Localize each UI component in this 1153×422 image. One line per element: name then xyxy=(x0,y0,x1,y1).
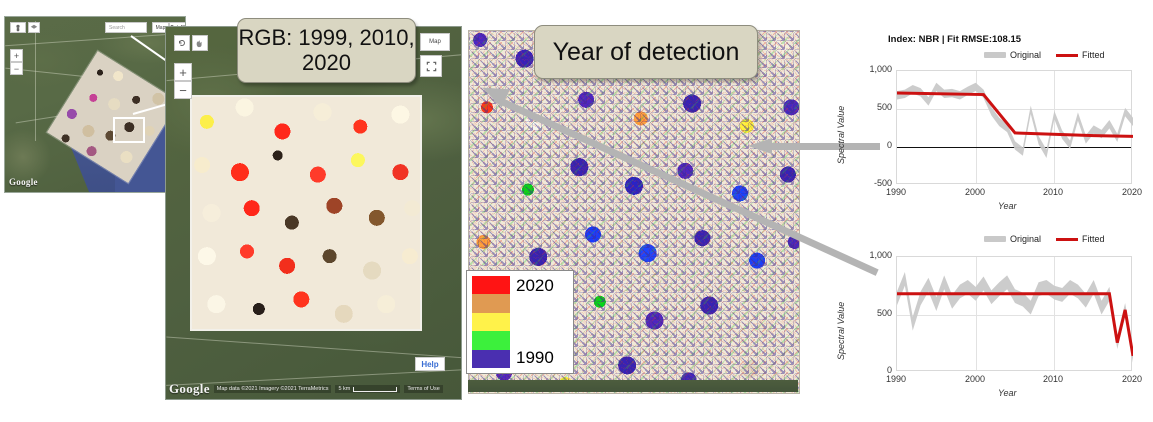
legend-item-original: Original xyxy=(984,50,1041,60)
chart-bottom: Original Fitted Spectral Value 1,000 500… xyxy=(832,228,1150,414)
legend-label-fitted: Fitted xyxy=(1082,234,1105,244)
main-map-maptype-label: Map xyxy=(429,39,441,45)
rgb-composite-image xyxy=(190,95,422,331)
chart-bottom-xtick-1990: 1990 xyxy=(876,374,916,384)
locator-map-label: Map xyxy=(156,25,166,31)
chart-top: Index: NBR | Fit RMSE:108.15 Original Fi… xyxy=(832,34,1150,220)
chart-top-ytick-500: 500 xyxy=(848,102,892,112)
legend-swatch-2020 xyxy=(472,276,510,294)
locator-search-input[interactable]: Search xyxy=(105,22,147,33)
locator-road xyxy=(35,21,36,141)
zoom-out-label: − xyxy=(179,83,187,98)
chart-top-plot-area xyxy=(896,70,1132,184)
map-attribution-text: Map data ©2021 Imagery ©2021 TerraMetric… xyxy=(214,385,332,393)
chart-bottom-legend: Original Fitted xyxy=(984,234,1105,244)
map-scale-label: 5 km xyxy=(338,386,350,392)
chart-bottom-xtick-2010: 2010 xyxy=(1033,374,1073,384)
legend-swatch-original xyxy=(984,52,1006,58)
legend-label-top: 2020 xyxy=(516,276,554,296)
arrow-head-top xyxy=(748,138,772,154)
help-label: Help xyxy=(421,360,438,369)
callout-rgb: RGB: 1999, 2010, 2020 xyxy=(237,18,416,83)
locator-google-watermark: Google xyxy=(9,172,38,190)
chart-bottom-xtick-2020: 2020 xyxy=(1112,374,1152,384)
legend-swatch-column xyxy=(472,276,510,368)
main-map-zoom-out-button[interactable]: − xyxy=(174,81,192,99)
chart-bottom-ylabel: Spectral Value xyxy=(836,302,846,360)
chart-bottom-xlabel: Year xyxy=(998,388,1017,398)
locator-roi-box[interactable] xyxy=(113,117,145,143)
legend-label-column: 2020 1990 xyxy=(516,276,554,368)
chart-top-ytick-1000: 1,000 xyxy=(848,64,892,74)
chart-bottom-xtick-2000: 2000 xyxy=(955,374,995,384)
chart-top-title: Index: NBR | Fit RMSE:108.15 xyxy=(888,34,1021,45)
zoom-in-label: + xyxy=(179,65,187,80)
map-scale-line xyxy=(353,387,397,392)
callout-year-of-detection: Year of detection xyxy=(534,25,758,79)
legend-item-original: Original xyxy=(984,234,1041,244)
main-map-fullscreen-icon[interactable] xyxy=(420,55,442,77)
locator-zoom-out-button[interactable]: − xyxy=(10,62,23,75)
year-of-detection-basemap-strip xyxy=(468,380,798,392)
main-map-maptype-button[interactable]: Map xyxy=(420,33,450,51)
chart-bottom-series xyxy=(897,257,1133,372)
legend-swatch-fitted xyxy=(1056,238,1078,241)
chart-top-legend: Original Fitted xyxy=(984,50,1105,60)
locator-zoom-in-button[interactable]: + xyxy=(10,49,23,62)
legend-swatch-4 xyxy=(472,294,510,312)
legend-swatch-3 xyxy=(472,313,510,331)
google-watermark: Google xyxy=(169,381,210,397)
year-of-detection-legend: 2020 1990 xyxy=(466,270,574,374)
legend-item-fitted: Fitted xyxy=(1056,50,1105,60)
chart-bottom-plot-area xyxy=(896,256,1132,371)
legend-label-fitted: Fitted xyxy=(1082,50,1105,60)
legend-swatch-fitted xyxy=(1056,54,1078,57)
map-help-button[interactable]: Help xyxy=(415,357,445,371)
legend-label-original: Original xyxy=(1010,234,1041,244)
legend-item-fitted: Fitted xyxy=(1056,234,1105,244)
chart-top-series xyxy=(897,71,1133,185)
callout-year-label: Year of detection xyxy=(553,38,740,66)
legend-swatch-2 xyxy=(472,331,510,349)
chart-bottom-ytick-500: 500 xyxy=(848,308,892,318)
locator-search-placeholder: Search xyxy=(109,25,125,31)
chart-bottom-ytick-1000: 1,000 xyxy=(848,250,892,260)
main-map-hand-icon[interactable] xyxy=(192,35,208,51)
legend-swatch-original xyxy=(984,236,1006,242)
legend-swatch-1990 xyxy=(472,350,510,368)
map-attribution-bar: Google Map data ©2021 Imagery ©2021 Terr… xyxy=(165,380,460,398)
chart-top-xtick-1990: 1990 xyxy=(876,187,916,197)
chart-top-xtick-2010: 2010 xyxy=(1033,187,1073,197)
chart-top-xtick-2000: 2000 xyxy=(955,187,995,197)
legend-label-bottom: 1990 xyxy=(516,348,554,368)
locator-pegman-icon[interactable] xyxy=(10,22,26,33)
map-terms-link[interactable]: Terms of Use xyxy=(404,385,442,393)
chart-top-xtick-2020: 2020 xyxy=(1112,187,1152,197)
map-scale-bar: 5 km xyxy=(335,385,400,393)
callout-rgb-label: RGB: 1999, 2010, 2020 xyxy=(238,26,415,75)
legend-label-original: Original xyxy=(1010,50,1041,60)
main-map-pan-icon[interactable] xyxy=(174,35,190,51)
chart-top-xlabel: Year xyxy=(998,201,1017,211)
main-map-zoom-in-button[interactable]: + xyxy=(174,63,192,81)
chart-top-ytick-0: 0 xyxy=(848,140,892,150)
locator-layers-icon[interactable] xyxy=(28,22,40,33)
chart-top-ylabel: Spectral Value xyxy=(836,106,846,164)
